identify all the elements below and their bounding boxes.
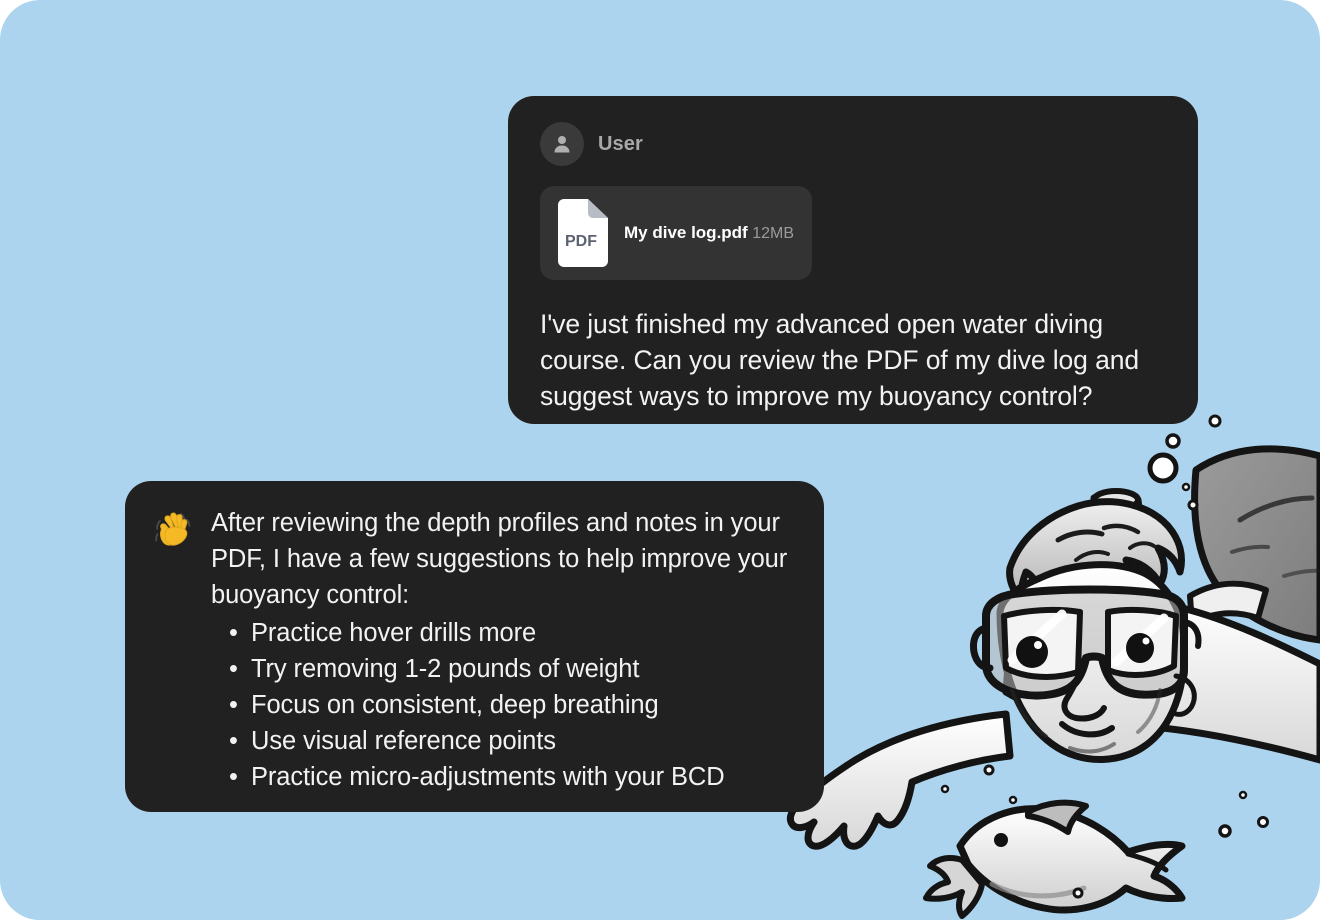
user-message-text: I've just finished my advanced open wate… (540, 306, 1166, 414)
svg-text:PDF: PDF (565, 233, 597, 250)
list-item: Practice micro-adjustments with your BCD (211, 759, 796, 795)
list-item: Practice hover drills more (211, 615, 796, 651)
chat-thread: User PDF My dive log.pdf 12MB I've just … (0, 0, 1320, 920)
pdf-attachment-card[interactable]: PDF My dive log.pdf 12MB (540, 186, 812, 280)
pdf-file-icon: PDF (554, 199, 608, 267)
assistant-intro-text: After reviewing the depth profiles and n… (211, 505, 796, 613)
list-item: Focus on consistent, deep breathing (211, 687, 796, 723)
pdf-file-size: 12MB (752, 225, 794, 242)
assistant-message-body: After reviewing the depth profiles and n… (211, 505, 796, 795)
suggestion-list: Practice hover drills more Try removing … (211, 615, 796, 795)
user-message-header: User (540, 122, 1166, 166)
list-item: Try removing 1-2 pounds of weight (211, 651, 796, 687)
waving-hand-emoji (153, 508, 197, 548)
person-icon (540, 122, 584, 166)
list-item: Use visual reference points (211, 723, 796, 759)
screenshot-canvas: User PDF My dive log.pdf 12MB I've just … (0, 0, 1320, 920)
assistant-message-bubble: After reviewing the depth profiles and n… (125, 481, 824, 812)
user-message-bubble: User PDF My dive log.pdf 12MB I've just … (508, 96, 1198, 424)
pdf-file-meta: My dive log.pdf 12MB (624, 223, 794, 243)
message-author: User (598, 133, 643, 156)
pdf-file-name: My dive log.pdf (624, 223, 748, 242)
